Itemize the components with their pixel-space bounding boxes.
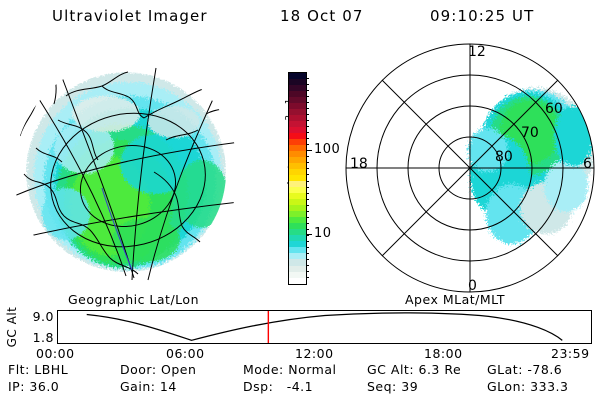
colorbar-minor-tick — [306, 229, 309, 230]
uvi-display-window: Ultraviolet Imager 18 Oct 07 09:10:25 UT — [0, 0, 600, 400]
altitude-xtick-label: 23:59 — [551, 346, 590, 361]
colorbar-minor-tick — [306, 217, 309, 218]
colorbar-gradient[interactable] — [288, 72, 307, 285]
colorbar-minor-tick — [306, 150, 309, 151]
status-gc-alt: GC Alt: 6.3 Re — [367, 362, 461, 377]
status-door: Door: Open — [120, 362, 196, 377]
colorbar-minor-tick — [306, 241, 309, 242]
altitude-ytick-group: 9.0 1.8 — [18, 308, 54, 346]
colorbar-minor-tick — [306, 265, 309, 266]
altitude-xtick-label: 12:00 — [295, 346, 334, 361]
colorbar-minor-tick — [306, 96, 309, 97]
colorbar-minor-tick — [306, 211, 309, 212]
dayglow-disk — [26, 72, 228, 272]
colorbar-minor-tick — [306, 108, 309, 109]
mlt-label-12: 12 — [468, 44, 486, 60]
colorbar-minor-tick — [306, 271, 309, 272]
colorbar-minor-tick — [306, 168, 309, 169]
colorbar-minor-tick — [306, 78, 309, 79]
status-flight: Flt: LBHL — [8, 362, 68, 377]
altitude-axis-label: GC Alt — [5, 297, 19, 357]
mlat-label-70: 70 — [521, 125, 539, 141]
colorbar-minor-tick — [306, 138, 309, 139]
status-gain: Gain: 14 — [120, 379, 177, 394]
apex-panel-caption: Apex MLat/MLT — [405, 292, 505, 307]
mlt-label-18: 18 — [350, 156, 368, 172]
colorbar-minor-tick — [306, 132, 309, 133]
colorbar-band — [289, 278, 306, 284]
colorbar-minor-tick — [306, 187, 309, 188]
colorbar-minor-tick — [306, 259, 309, 260]
colorbar-minor-tick — [306, 114, 309, 115]
colorbar-minor-tick — [306, 223, 309, 224]
spacecraft-altitude-curve — [87, 313, 563, 340]
colorbar-minor-tick — [306, 162, 309, 163]
colorbar-minor-tick — [306, 235, 309, 236]
colorbar[interactable]: photon cm-2s-1 10010 — [262, 60, 342, 295]
mlt-spokes — [346, 44, 594, 292]
colorbar-minor-tick — [306, 126, 309, 127]
mlat-label-80: 80 — [495, 149, 513, 165]
colorbar-minor-tick — [306, 199, 309, 200]
colorbar-minor-tick — [306, 253, 309, 254]
apex-polar-panel[interactable]: 12 18 6 0 60 70 80 — [340, 40, 598, 296]
altitude-xtick-label: 06:00 — [166, 346, 205, 361]
colorbar-minor-tick — [306, 205, 309, 206]
apex-polar-plot: 12 18 6 0 60 70 80 — [340, 40, 598, 296]
altitude-ytick-high: 9.0 — [33, 309, 54, 324]
geographic-panel-caption: Geographic Lat/Lon — [68, 292, 199, 307]
mlt-label-6: 6 — [583, 156, 592, 172]
colorbar-tick-label: 10 — [314, 227, 332, 240]
altitude-xtick-label: 00:00 — [36, 346, 75, 361]
colorbar-minor-tick — [306, 156, 309, 157]
colorbar-minor-tick — [306, 120, 309, 121]
observation-date: 18 Oct 07 — [280, 7, 364, 25]
mlat-label-60: 60 — [545, 101, 563, 117]
auroral-oval-data — [468, 88, 594, 244]
instrument-title: Ultraviolet Imager — [52, 7, 208, 25]
observation-time: 09:10:25 UT — [430, 7, 534, 25]
status-glat: GLat: -78.6 — [487, 362, 562, 377]
colorbar-tick-label: 100 — [314, 143, 340, 156]
colorbar-minor-tick — [306, 90, 309, 91]
status-ip: IP: 36.0 — [8, 379, 59, 394]
colorbar-minor-tick — [306, 181, 309, 182]
altitude-ytick-low: 1.8 — [33, 330, 54, 345]
colorbar-minor-tick — [306, 84, 309, 85]
status-footer: Flt: LBHL Door: Open Mode: Normal GC Alt… — [0, 362, 600, 398]
colorbar-minor-tick — [306, 247, 309, 248]
altitude-xtick-label: 18:00 — [424, 346, 463, 361]
altitude-curve-svg — [58, 311, 591, 343]
altitude-plot-area[interactable] — [57, 310, 592, 344]
altitude-strip-chart[interactable]: GC Alt 9.0 1.8 00:0006:0012:0018:0023:59 — [0, 308, 600, 360]
colorbar-minor-tick — [306, 174, 309, 175]
geographic-image-panel[interactable] — [6, 44, 260, 294]
colorbar-minor-tick — [306, 277, 309, 278]
status-seq: Seq: 39 — [367, 379, 418, 394]
colorbar-minor-tick — [306, 193, 309, 194]
colorbar-minor-tick — [306, 102, 309, 103]
status-mode: Mode: Normal — [243, 362, 336, 377]
colorbar-minor-tick — [306, 144, 309, 145]
geographic-image — [6, 44, 260, 294]
status-dsp: Dsp: -4.1 — [243, 379, 313, 394]
header-bar: Ultraviolet Imager 18 Oct 07 09:10:25 UT — [0, 2, 600, 30]
status-glon: GLon: 333.3 — [487, 379, 568, 394]
